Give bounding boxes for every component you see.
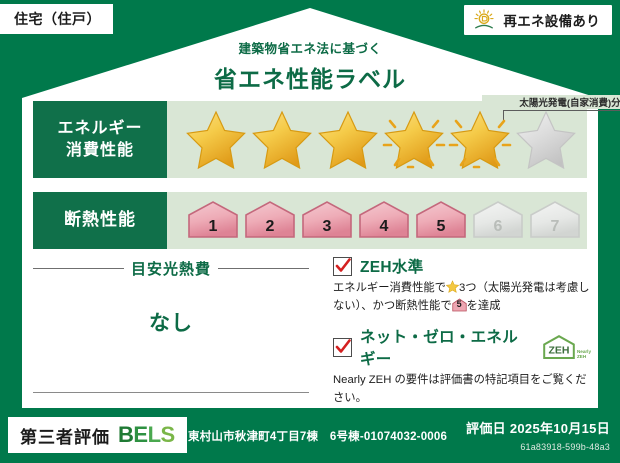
sun-icon [472,9,496,31]
bels-wordmark: BELS [118,422,175,448]
insulation-level-number: 7 [528,218,582,236]
zeh-standard-description: エネルギー消費性能で3つ（太陽光発電は考慮しない）、かつ断熱性能で5を達成 [333,280,591,315]
heading-rule-left [33,268,124,269]
insulation-house-icon-number: 5 [452,298,467,312]
utility-cost-heading-text: 目安光熱費 [131,258,211,279]
utility-cost-value: なし [33,307,309,337]
energy-label-line2: 消費性能 [57,140,142,162]
renewable-badge-label: 再エネ設備あり [503,10,600,30]
property-address: 東村山市秋津町4丁目7棟 6号棟-01074032-0006 [188,428,447,444]
insulation-level-number: 6 [471,218,525,236]
star-icon [446,280,459,293]
label-title: 建築物省エネ法に基づく 省エネ性能ラベル [0,38,620,94]
star-icon [316,109,380,171]
label-uid: 61a83918-599b-48a3 [520,442,610,452]
criteria-block: ZEH水準 エネルギー消費性能で3つ（太陽光発電は考慮しない）、かつ断熱性能で5… [333,255,591,407]
star-rating [167,109,578,171]
heading-rule-right [218,268,309,269]
third-party-label: 第三者評価 [20,423,110,448]
pv-bracket-label: 太陽光発電(自家消費)分 [482,95,620,109]
star-icon [448,109,512,171]
zeh-standard-title: ZEH水準 [360,255,424,277]
star-filled [316,109,380,171]
zeh-standard-checkbox[interactable] [333,257,352,276]
title-subtitle: 建築物省エネ法に基づく [0,38,620,57]
zeh-desc-part1: エネルギー消費性能で [333,282,446,294]
zeh-standard-check-row: ZEH水準 [333,255,591,277]
insulation-house-icon: 5 [452,298,467,312]
title-main: 省エネ性能ラベル [0,60,620,94]
star-filled [250,109,314,171]
insulation-level-empty: 6 [471,200,525,241]
utility-cost-bottom-rule [33,392,309,393]
energy-label-line1: エネルギー [57,118,142,140]
zeh-logo-sub2: ZEH [577,355,591,360]
star-empty [514,109,578,171]
star-filled [382,109,446,171]
net-zero-energy-title: ネット・ゼロ・エネルギー [360,325,530,369]
check-icon [335,258,351,274]
star-icon [382,109,446,171]
insulation-row-label: 断熱性能 [33,192,167,249]
net-zero-energy-check-row: ネット・ゼロ・エネルギー ZEH Nearly ZEH [333,325,591,369]
label-footer: 第三者評価 BELS 東村山市秋津町4丁目7棟 6号棟-01074032-000… [0,408,620,463]
energy-performance-row-label: エネルギー 消費性能 [33,101,167,178]
utility-cost-block: 目安光熱費 なし [33,258,309,393]
zeh-logo-subtext: Nearly ZEH [577,350,591,360]
insulation-level-number: 5 [414,218,468,236]
svg-text:ZEH: ZEH [548,345,569,357]
insulation-level-filled: 2 [243,200,297,241]
insulation-level-filled: 1 [186,200,240,241]
insulation-level-list: 1234567 [167,200,582,241]
insulation-level-number: 2 [243,218,297,236]
check-icon [335,339,351,355]
zeh-logo: ZEH Nearly ZEH [542,334,591,360]
insulation-level-filled: 5 [414,200,468,241]
evaluation-date: 評価日 2025年10月15日 [466,418,610,437]
dwelling-type-badge: 住宅（住戸） [0,4,113,34]
insulation-level-number: 1 [186,218,240,236]
insulation-level-filled: 3 [300,200,354,241]
star-icon [514,109,578,171]
insulation-level-number: 3 [300,218,354,236]
insulation-performance-row: 断熱性能 1234567 [33,192,587,249]
energy-stars-area: 太陽光発電(自家消費)分 [167,101,587,178]
bels-badge: 第三者評価 BELS [8,417,187,453]
bels-letter: E [133,422,147,448]
net-zero-energy-checkbox[interactable] [333,338,352,357]
zeh-desc-part3: を達成 [467,300,501,312]
insulation-level-empty: 7 [528,200,582,241]
bels-letter: L [148,422,161,448]
insulation-levels-area: 1234567 [167,192,587,249]
star-filled [184,109,248,171]
zeh-house-logo-icon: ZEH [542,334,576,360]
energy-performance-row: エネルギー 消費性能 太陽光発電(自家消費)分 [33,101,587,178]
renewable-equipment-badge: 再エネ設備あり [464,5,612,35]
insulation-level-filled: 4 [357,200,411,241]
star-icon [250,109,314,171]
star-icon [184,109,248,171]
utility-cost-heading: 目安光熱費 [33,258,309,279]
energy-performance-label: 住宅（住戸） 再エネ設備あり 建築物省エネ法に基づく 省エネ性能ラベル エネル [0,0,620,463]
net-zero-energy-description: Nearly ZEH の要件は評価書の特記項目をご覧ください。 [333,372,591,407]
bels-letter: B [118,422,133,448]
bels-letter: S [161,422,175,448]
star-filled [448,109,512,171]
insulation-level-number: 4 [357,218,411,236]
